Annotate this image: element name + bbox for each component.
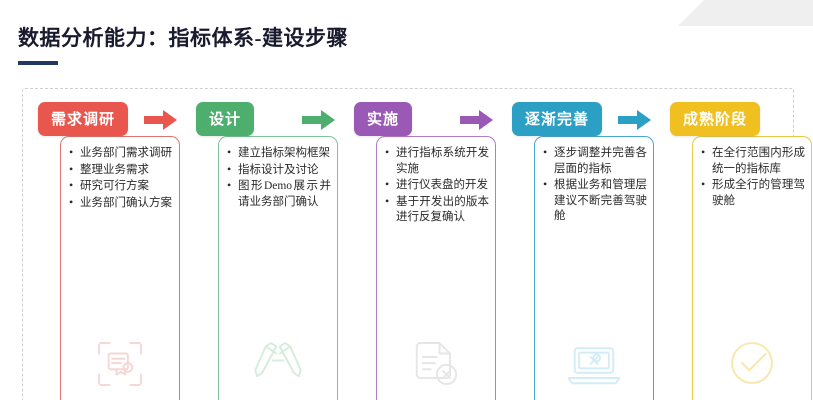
stage-header-label-2[interactable]: 设计 [196,102,254,136]
stage-card-4[interactable]: 逐渐完善逐步调整并完善各层面的指标根据业务和管理层建议不断完善驾驶舱 [496,88,654,400]
stage-bullet-list-2: 建立指标架构框架指标设计及讨论图形Demo展示并请业务部门确认 [219,137,337,210]
list-item: 进行指标系统开发实施 [385,146,489,177]
list-item: 在全行范围内形成统一的指标库 [701,146,805,177]
stage-bullet-list-1: 业务部门需求调研整理业务需求研究可行方案业务部门确认方案 [61,137,179,211]
list-item: 根据业务和管理层建议不断完善驾驶舱 [543,178,647,225]
stage-header-label-4[interactable]: 逐渐完善 [512,102,602,136]
document-scan-icon [61,336,179,392]
stage-card-5[interactable]: 成熟阶段在全行范围内形成统一的指标库形成全行的管理驾驶舱 [654,88,812,400]
stage-header-label-3[interactable]: 实施 [354,102,412,136]
stage-body-2: 建立指标架构框架指标设计及讨论图形Demo展示并请业务部门确认 [218,136,338,400]
slide-canvas: 数据分析能力：指标体系-建设步骤 需求调研业务部门需求调研整理业务需求研究可行方… [0,0,813,400]
list-item: 建立指标架构框架 [227,146,331,162]
title-underline-rule [18,61,58,65]
stage-bullet-list-4: 逐步调整并完善各层面的指标根据业务和管理层建议不断完善驾驶舱 [535,137,653,225]
list-item: 逐步调整并完善各层面的指标 [543,146,647,177]
list-item: 形成全行的管理驾驶舱 [701,178,805,209]
stage-body-5: 在全行范围内形成统一的指标库形成全行的管理驾驶舱 [692,136,812,400]
stage-body-3: 进行指标系统开发实施进行仪表盘的开发基于开发出的版本进行反复确认 [376,136,496,400]
stage-card-2[interactable]: 设计建立指标架构框架指标设计及讨论图形Demo展示并请业务部门确认 [180,88,338,400]
stage-header-label-1[interactable]: 需求调研 [38,102,128,136]
flow-arrow-1 [144,108,178,132]
flow-arrow-2 [302,108,336,132]
list-item: 基于开发出的版本进行反复确认 [385,195,489,226]
corner-decoration [678,0,813,26]
pencil-ruler-icon [219,336,337,392]
list-item: 业务部门需求调研 [69,146,173,162]
stage-cards-row: 需求调研业务部门需求调研整理业务需求研究可行方案业务部门确认方案 设计建立指标架… [22,88,794,400]
stage-body-4: 逐步调整并完善各层面的指标根据业务和管理层建议不断完善驾驶舱 [534,136,654,400]
laptop-wrench-icon [535,336,653,392]
title-block: 数据分析能力：指标体系-建设步骤 [18,22,348,65]
stage-header-label-5[interactable]: 成熟阶段 [670,102,760,136]
document-tools-icon [377,336,495,392]
stage-card-3[interactable]: 实施进行指标系统开发实施进行仪表盘的开发基于开发出的版本进行反复确认 [338,88,496,400]
page-title: 数据分析能力：指标体系-建设步骤 [18,22,348,52]
list-item: 研究可行方案 [69,179,173,195]
stage-bullet-list-5: 在全行范围内形成统一的指标库形成全行的管理驾驶舱 [693,137,811,209]
list-item: 整理业务需求 [69,163,173,179]
stage-card-1[interactable]: 需求调研业务部门需求调研整理业务需求研究可行方案业务部门确认方案 [22,88,180,400]
list-item: 进行仪表盘的开发 [385,178,489,194]
check-circle-icon [693,334,811,392]
flow-arrow-3 [460,108,494,132]
list-item: 业务部门确认方案 [69,196,173,212]
stage-body-1: 业务部门需求调研整理业务需求研究可行方案业务部门确认方案 [60,136,180,400]
list-item: 指标设计及讨论 [227,163,331,179]
flow-arrow-4 [618,108,652,132]
stage-bullet-list-3: 进行指标系统开发实施进行仪表盘的开发基于开发出的版本进行反复确认 [377,137,495,226]
list-item: 图形Demo展示并请业务部门确认 [227,179,331,210]
